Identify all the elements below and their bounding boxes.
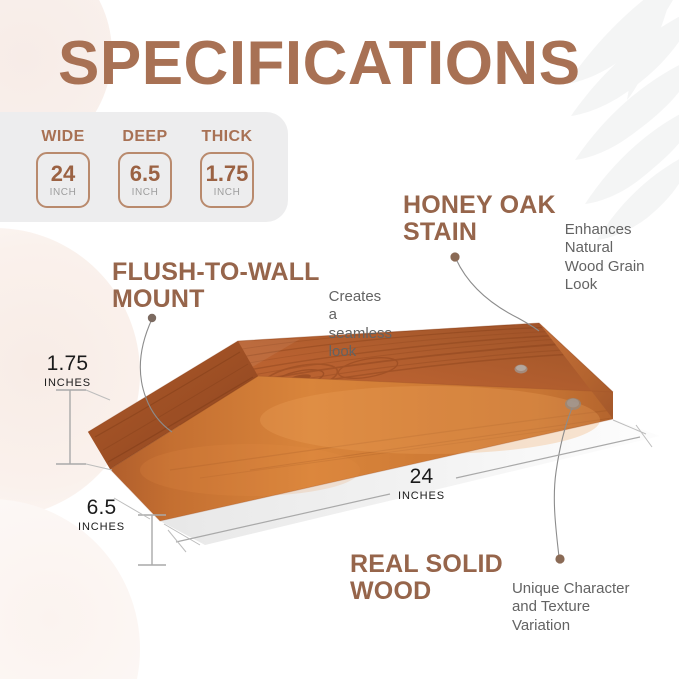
- callout-flush-heading-line1: FLUSH-TO-WALL: [112, 258, 320, 286]
- callout-honey-heading-line2: STAIN: [403, 218, 477, 246]
- callout-flush-to-wall-mount: FLUSH-TO-WALL MOUNT Creates a seamless l…: [112, 259, 362, 361]
- callout-honey-heading-line1: HONEY OAK: [403, 191, 556, 219]
- callout-flush-desc-line1: Creates a: [329, 288, 392, 325]
- callout-real-desc-line2: and Texture Variation: [512, 598, 640, 635]
- dimension-unit-width: INCHES: [398, 490, 445, 502]
- callout-real-heading-line1: REAL SOLID: [350, 550, 503, 578]
- dimension-label-depth: 6.5 INCHES: [78, 497, 125, 533]
- callout-flush-heading-line2: MOUNT: [112, 285, 205, 313]
- dimension-value-depth: 6.5: [78, 497, 125, 518]
- callout-real-desc-line1: Unique Character: [512, 580, 630, 598]
- dimension-value-width: 24: [398, 466, 445, 487]
- dimension-unit-thickness: INCHES: [44, 377, 91, 389]
- callout-flush-desc-line2: seamless look: [329, 325, 392, 362]
- dimension-label-width: 24 INCHES: [398, 466, 445, 502]
- callout-real-heading-line2: WOOD: [350, 577, 431, 605]
- specifications-infographic: SPECIFICATIONS WIDE 24 INCH DEEP 6.5 INC…: [0, 0, 679, 679]
- dimension-value-thickness: 1.75: [44, 353, 91, 374]
- dimension-unit-depth: INCHES: [78, 521, 125, 533]
- callout-honey-oak-stain: HONEY OAK STAIN Enhances Natural Wood Gr…: [403, 192, 668, 294]
- callout-honey-desc-line2: Wood Grain Look: [565, 258, 668, 295]
- callout-real-solid-wood: REAL SOLID WOOD Unique Character and Tex…: [350, 551, 640, 635]
- callout-honey-desc-line1: Enhances Natural: [565, 221, 668, 258]
- dimension-label-thickness: 1.75 INCHES: [44, 353, 91, 389]
